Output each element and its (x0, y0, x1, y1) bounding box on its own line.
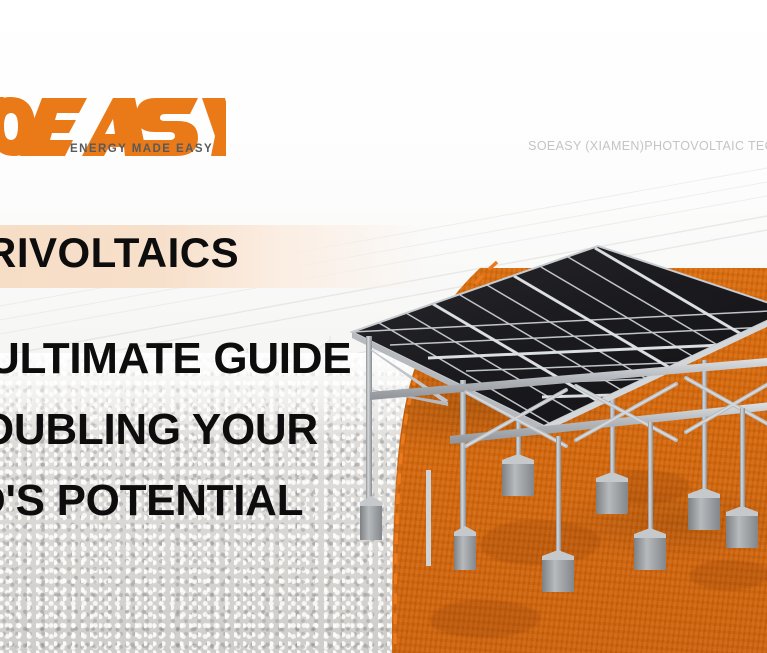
headline-line-1: ULTIMATE GUIDE (0, 337, 351, 381)
headline-kicker: RIVOLTAICS (0, 232, 420, 274)
headline-block: RIVOLTAICS ULTIMATE GUIDE OUBLING YOUR D… (0, 232, 420, 274)
company-name-watermark: SOEASY (XIAMEN)PHOTOVOLTAIC TEC (528, 139, 767, 153)
headline-line-3: D'S POTENTIAL (0, 479, 303, 523)
agrivoltaics-hero-banner: ENERGY MADE EASY SOEASY (XIAMEN)PHOTOVOL… (0, 0, 767, 653)
headline-line-2: OUBLING YOUR (0, 408, 318, 452)
logo-tagline: ENERGY MADE EASY (70, 143, 213, 155)
solar-carport-illustration (330, 240, 767, 650)
